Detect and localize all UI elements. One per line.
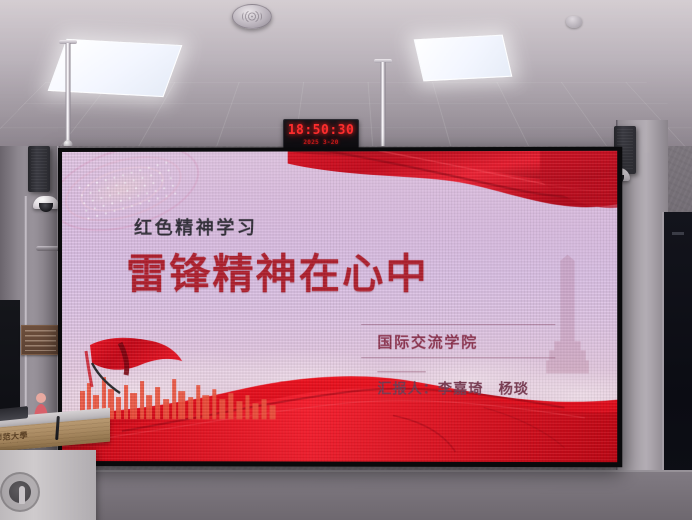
presentation-slide: 红色精神学习 雷锋精神在心中 国际交流学院 汇报人：李嘉琦 杨琰 <box>62 151 617 462</box>
slide-subtitle: 红色精神学习 <box>134 214 257 240</box>
presenter-names: 汇报人：李嘉琦 杨琰 <box>361 378 529 398</box>
organization-name: 国际交流学院 <box>361 325 555 357</box>
clock-time-display: 18:50:30 <box>288 124 355 138</box>
slide-text-block: 红色精神学习 雷锋精神在心中 国际交流学院 汇报人：李嘉琦 杨琰 <box>62 151 617 462</box>
wall-conduit <box>24 196 28 406</box>
podium: 师范大學 · · · · <box>0 418 110 520</box>
notice-text-lines <box>25 330 56 351</box>
lecture-hall-scene: 18:50:30 2025 3-20 <box>0 0 692 520</box>
ceiling-sensor-icon <box>566 16 582 28</box>
security-camera-left-icon <box>33 196 59 209</box>
university-seal-icon <box>0 472 40 512</box>
smoke-detector-icon <box>232 4 272 29</box>
divider-bottom <box>361 357 555 358</box>
organization-block: 国际交流学院 <box>361 324 555 372</box>
wall-notice-plaque <box>21 325 60 355</box>
slide-title: 雷锋精神在心中 <box>126 240 429 300</box>
ceiling-light-right-icon <box>414 35 513 82</box>
led-display-screen[interactable]: 红色精神学习 雷锋精神在心中 国际交流学院 汇报人：李嘉琦 杨琰 <box>58 147 622 468</box>
digital-wall-clock: 18:50:30 2025 3-20 <box>283 119 359 151</box>
clock-date-display: 2025 3-20 <box>303 138 338 147</box>
wall-speaker-left-icon <box>28 146 50 192</box>
projector-mount-pole-left <box>60 40 76 146</box>
wall-recess-left <box>0 300 20 420</box>
pole-rod <box>66 43 71 141</box>
divider-presenter <box>377 371 425 372</box>
